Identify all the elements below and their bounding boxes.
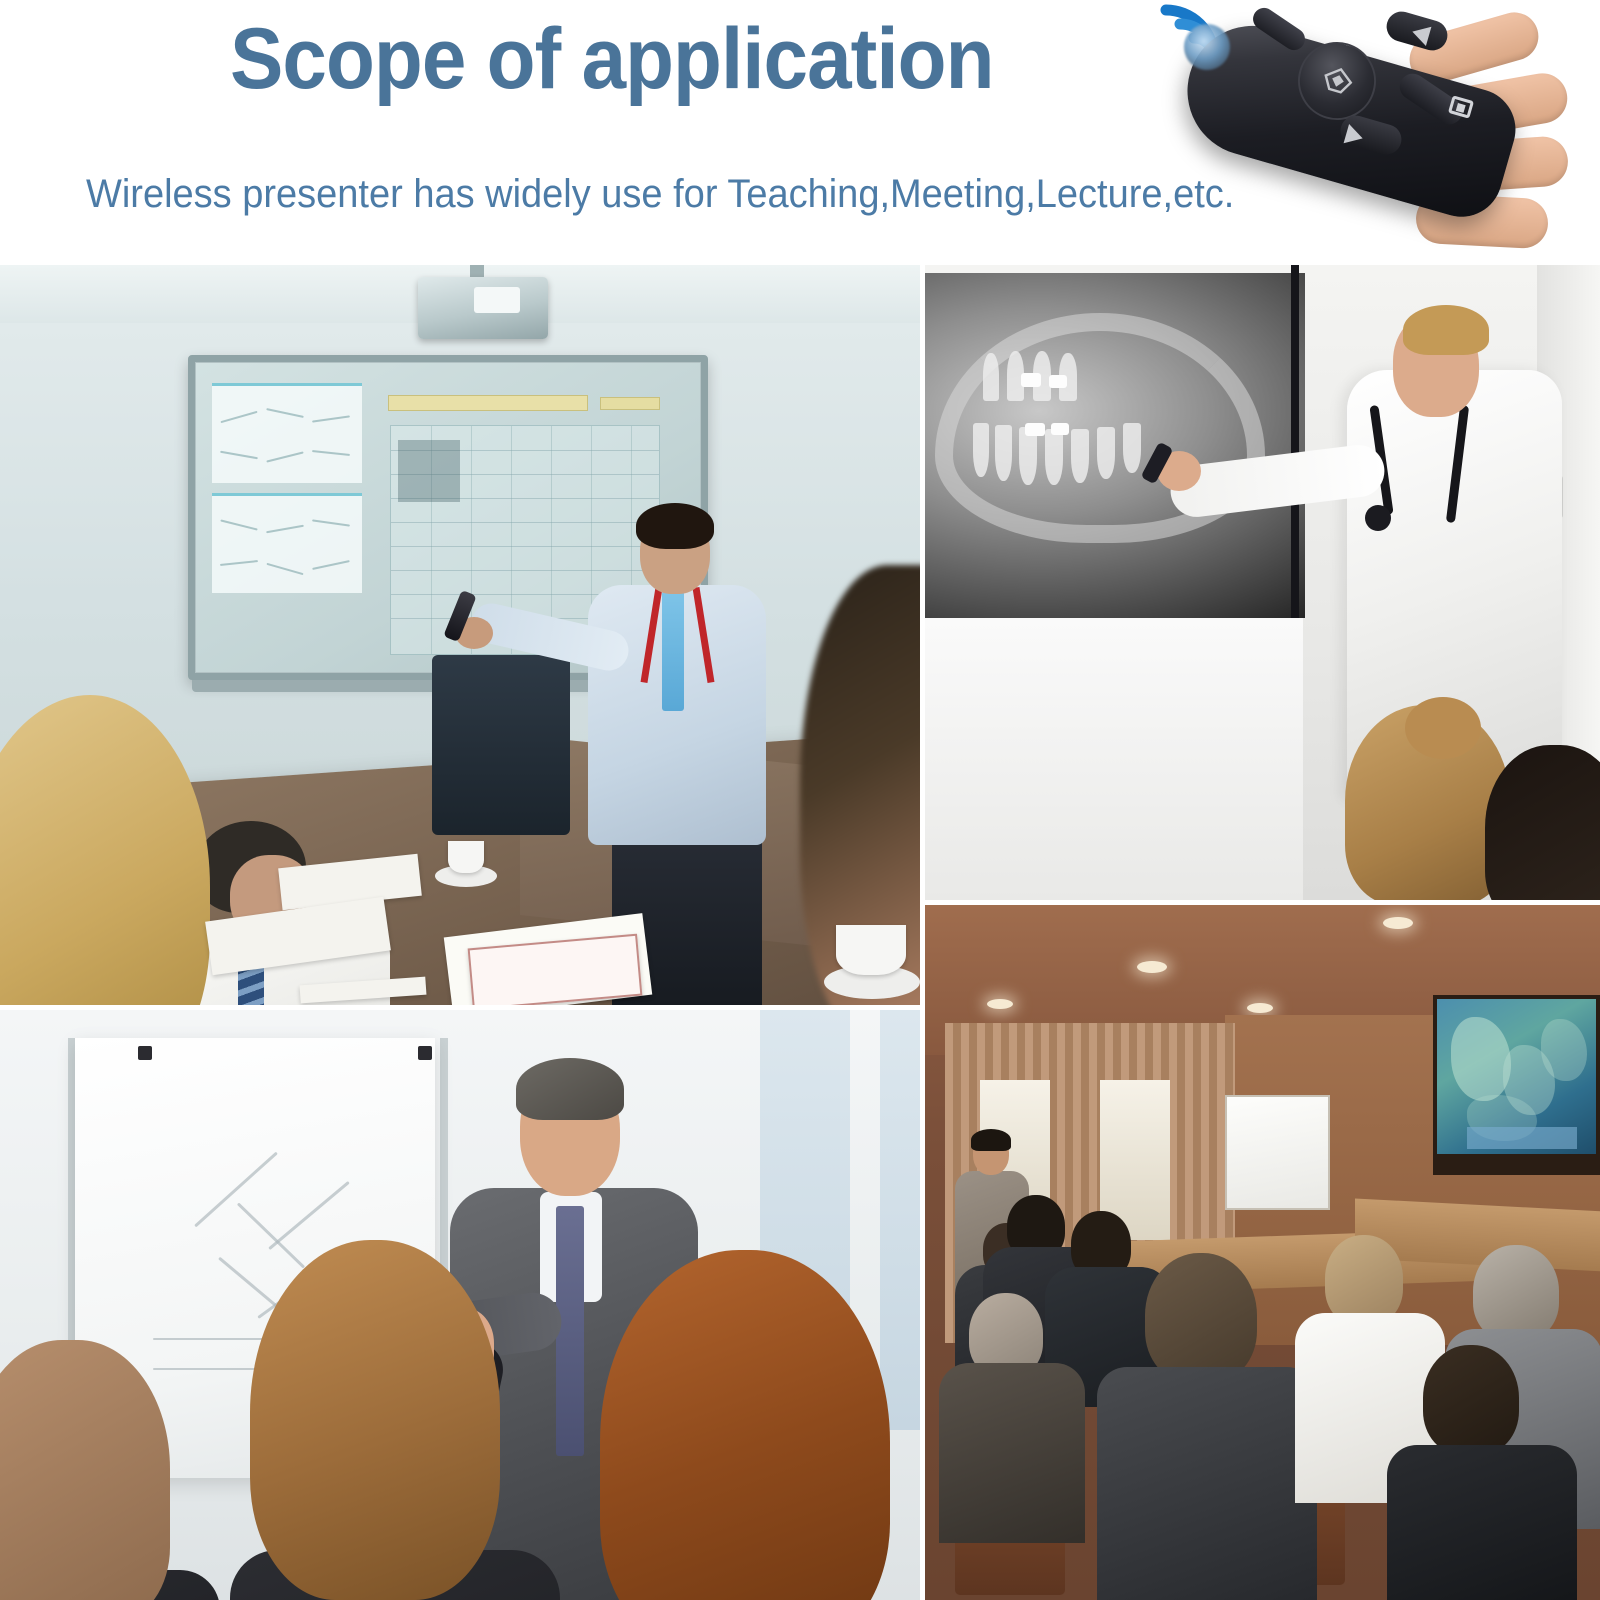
ceiling-projector: [418, 277, 548, 339]
ceiling-light: [1137, 961, 1167, 973]
projected-legend: [398, 440, 460, 502]
page-title: Scope of application: [230, 14, 1048, 104]
xray-lightbox: [925, 273, 1305, 618]
speaker-hair: [971, 1129, 1011, 1151]
header-banner: Scope of application Wireless presenter …: [0, 0, 1600, 265]
photo-medical-lecture: [925, 265, 1600, 900]
doctor-hair: [1403, 305, 1489, 355]
audience-head: [1325, 1235, 1403, 1325]
presenter-hair: [636, 503, 714, 549]
audience-head: [1145, 1253, 1257, 1383]
coffee-cup: [448, 841, 484, 873]
product-marketing-image: Scope of application Wireless presenter …: [0, 0, 1600, 1600]
photo-training-session: [0, 1010, 920, 1600]
attendee-hair-back: [600, 1250, 890, 1600]
attendee-hair-back: [250, 1240, 500, 1600]
coffee-cup: [836, 925, 906, 975]
photo-seminar-hall: [925, 905, 1600, 1600]
presenter-necktie: [556, 1206, 584, 1456]
ceiling-light: [1383, 917, 1413, 929]
ceiling-light: [1247, 1003, 1273, 1013]
whiteboard: [1225, 1095, 1330, 1210]
projected-toolbar-secondary: [600, 397, 660, 410]
page-subtitle: Wireless presenter has widely use for Te…: [86, 172, 1226, 217]
audience-head: [1473, 1245, 1559, 1341]
audience-body: [1097, 1367, 1317, 1600]
wireless-presenter-device: [1150, 0, 1600, 265]
photo-gallery-grid: [0, 265, 1600, 1600]
ceiling-light: [987, 999, 1013, 1009]
clinic-cabinet: [925, 618, 1303, 900]
chart-panel: [212, 383, 362, 483]
audience-head: [1423, 1345, 1519, 1455]
flipchart-clip: [138, 1046, 152, 1060]
flipchart-clip: [418, 1046, 432, 1060]
presenter-necktie: [662, 591, 684, 711]
attendee-head-back: [0, 1340, 170, 1600]
stethoscope-bell: [1365, 505, 1391, 531]
window: [880, 1010, 920, 1430]
audience-body: [939, 1363, 1085, 1543]
projected-toolbar: [388, 395, 588, 411]
office-chair: [432, 655, 570, 835]
chart-panel: [212, 493, 362, 593]
audience-body: [1387, 1445, 1577, 1600]
presenter-hair: [516, 1058, 624, 1120]
slide-text-block: [1467, 1127, 1577, 1149]
photo-meeting-room: [0, 265, 920, 1005]
student-hair-bun: [1405, 697, 1481, 759]
